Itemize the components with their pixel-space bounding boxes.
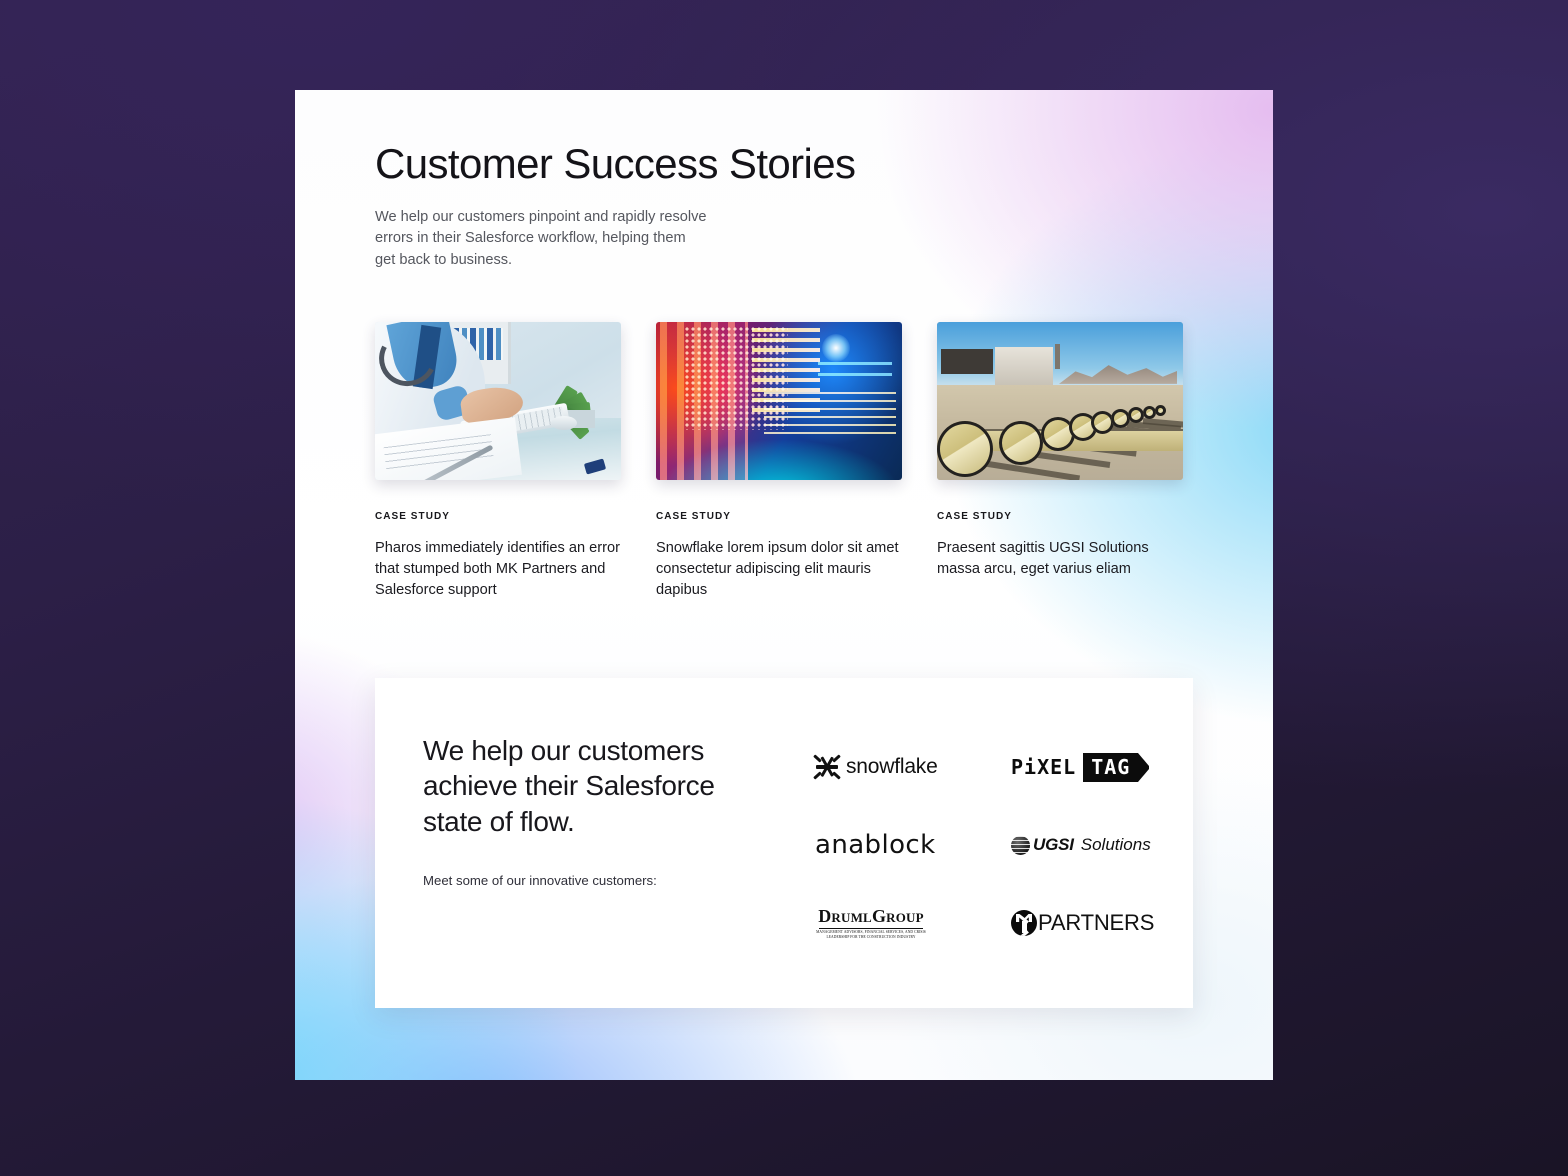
case-study-card-3[interactable]: CASE STUDY Praesent sagittis UGSI Soluti… — [937, 322, 1183, 601]
logo-anablock[interactable]: anablock — [815, 806, 936, 884]
computer-mouse — [551, 416, 577, 430]
doctor-typing-at-desk-photo — [375, 322, 621, 480]
case-study-card-2[interactable]: CASE STUDY Snowflake lorem ipsum dolor s… — [656, 322, 902, 601]
logo-wordmark: UGSI — [1033, 835, 1074, 855]
warehouse-building — [995, 347, 1053, 388]
case-study-grid: CASE STUDY Pharos immediately identifies… — [375, 322, 1185, 601]
logo-wordmark: DRUMLGROUP — [818, 906, 924, 927]
smoke-stack — [1055, 344, 1060, 369]
case-study-title: Snowflake lorem ipsum dolor sit amet con… — [656, 538, 902, 601]
logo-wordmark: PARTNERS — [1038, 910, 1154, 936]
globe-icon — [1011, 836, 1030, 855]
hero-gradient-card: Customer Success Stories We help our cus… — [295, 90, 1273, 1080]
hero-card-content: Customer Success Stories We help our cus… — [295, 90, 1273, 1080]
pipe-row — [937, 385, 1183, 480]
case-study-eyebrow: CASE STUDY — [656, 511, 902, 522]
logo-wordmark-secondary: Solutions — [1081, 835, 1151, 855]
logo-wordmark-ruml: RUML — [831, 910, 872, 925]
case-study-card-1[interactable]: CASE STUDY Pharos immediately identifies… — [375, 322, 621, 601]
industrial-pipes-desert-yard-photo — [937, 322, 1183, 480]
page-title: Customer Success Stories — [375, 140, 935, 187]
logo-wordmark-g: G — [872, 906, 886, 926]
logo-tagline: Management Advisors, Financial Services,… — [815, 930, 927, 940]
case-study-eyebrow: CASE STUDY — [375, 511, 621, 522]
headline-block: Customer Success Stories We help our cus… — [375, 140, 935, 271]
logo-pixel-tag[interactable]: PiXEL TAG — [985, 728, 1138, 806]
mk-monogram-icon — [1011, 910, 1037, 936]
panel-title: We help our customers achieve their Sale… — [423, 733, 753, 839]
logo-wordmark: snowflake — [846, 755, 938, 779]
logo-druml-group[interactable]: DRUMLGROUP Management Advisors, Financia… — [815, 884, 927, 962]
panel-note: Meet some of our innovative customers: — [423, 873, 753, 888]
customer-logo-grid: snowflake PiXEL TAG anablock — [815, 728, 1155, 962]
panel-copy-block: We help our customers achieve their Sale… — [423, 733, 753, 888]
divider — [819, 928, 923, 929]
blue-code-lines — [818, 362, 892, 384]
logo-wordmark-d: D — [818, 906, 831, 926]
case-study-title: Pharos immediately identifies an error t… — [375, 538, 621, 601]
page-backdrop: Customer Success Stories We help our cus… — [0, 0, 1568, 1176]
logo-wordmark-roup: ROUP — [886, 910, 924, 925]
snowflake-icon — [815, 755, 839, 779]
logo-ugsi-solutions[interactable]: UGSI Solutions — [985, 806, 1151, 884]
dark-structure — [941, 349, 993, 374]
logo-wordmark: anablock — [815, 830, 936, 860]
code-text-lines — [764, 392, 896, 436]
logo-wordmark: PiXEL — [1011, 755, 1076, 779]
logo-snowflake[interactable]: snowflake — [815, 728, 938, 806]
abstract-data-code-visualization-photo — [656, 322, 902, 480]
page-subtitle: We help our customers pinpoint and rapid… — [375, 207, 707, 271]
logo-mk-partners[interactable]: PARTNERS — [985, 884, 1154, 962]
pixel-tag-chip-icon: TAG — [1083, 753, 1138, 782]
case-study-title: Praesent sagittis UGSI Solutions massa a… — [937, 538, 1183, 580]
case-study-eyebrow: CASE STUDY — [937, 511, 1183, 522]
light-flare — [822, 334, 850, 362]
customers-logos-panel: We help our customers achieve their Sale… — [375, 678, 1193, 1008]
